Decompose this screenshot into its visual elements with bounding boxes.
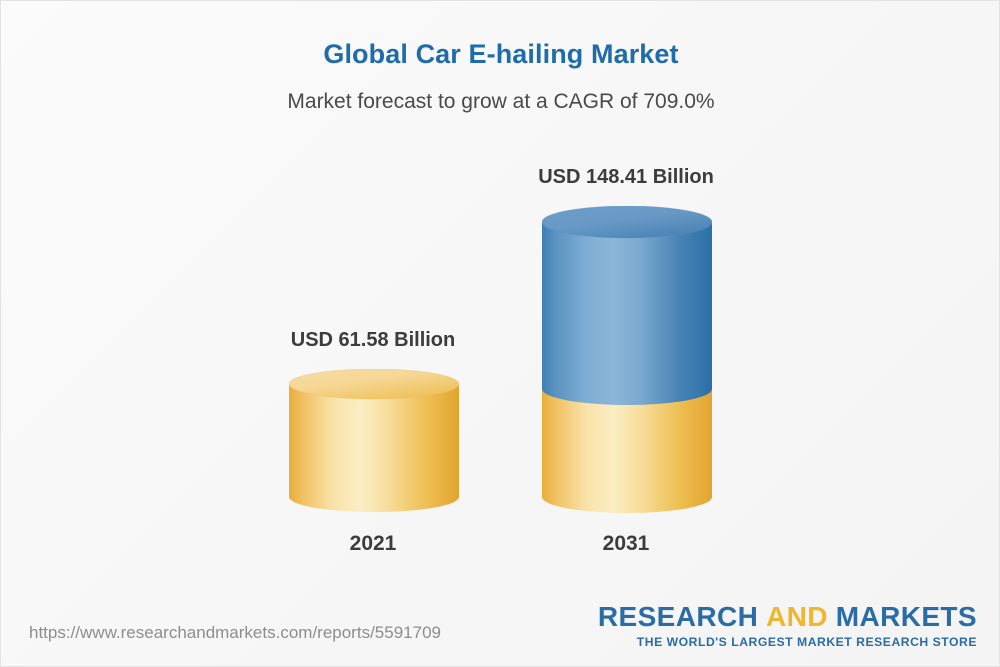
research-and-markets-logo: RESEARCHANDMARKETS THE WORLD'S LARGEST M… (598, 603, 977, 648)
category-label-2031: 2031 (476, 532, 776, 556)
report-url[interactable]: https://www.researchandmarkets.com/repor… (29, 623, 441, 643)
plot-area: USD 61.58 Billion USD 148.41 Billion (1, 1, 1000, 601)
logo-word-and: AND (766, 601, 828, 632)
bar-cylinder-2021 (289, 369, 459, 514)
logo-word-research: RESEARCH (598, 601, 758, 632)
chart-canvas: Global Car E-hailing Market Market forec… (0, 0, 1000, 667)
value-label-2021: USD 61.58 Billion (223, 329, 523, 352)
logo-wordmark: RESEARCHANDMARKETS (598, 603, 977, 631)
value-label-2031: USD 148.41 Billion (476, 166, 776, 189)
bar-cylinder-2031 (542, 206, 712, 514)
logo-word-markets: MARKETS (836, 601, 977, 632)
logo-tagline: THE WORLD'S LARGEST MARKET RESEARCH STOR… (598, 636, 977, 648)
